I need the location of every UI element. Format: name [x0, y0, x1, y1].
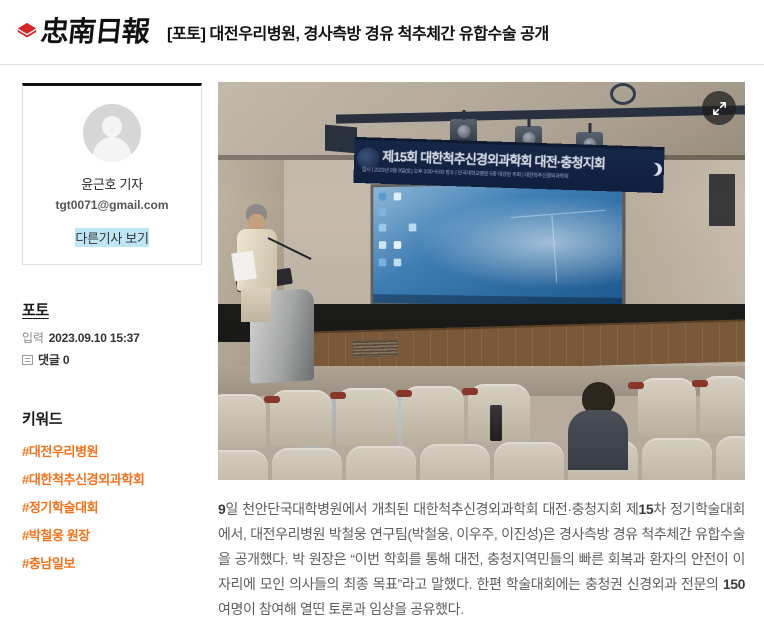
photo-person-papers	[231, 251, 257, 282]
photo-desktop-wallpaper	[511, 209, 611, 285]
photo-seat-armrest	[330, 392, 346, 399]
keyword-tag[interactable]: #충남일보	[22, 553, 202, 572]
photo-tumbler	[490, 405, 502, 441]
photo-desktop-icon	[394, 193, 401, 201]
keywords-section: 키워드 #대전우리병원 #대한척추신경외과학회 #정기학술대회 #박철웅 원장 …	[22, 408, 202, 572]
photo-person-legs	[241, 288, 271, 322]
photo-desktop-icon	[379, 259, 386, 267]
photo-seat	[272, 448, 342, 480]
photo-speaker-person	[236, 204, 278, 320]
published-label: 입력	[22, 329, 44, 346]
reporter-email: tgt0071@gmail.com	[33, 198, 191, 212]
photo-desktop-icon	[394, 241, 401, 249]
published-value: 2023.09.10 15:37	[49, 331, 140, 345]
reporter-card: 윤근호 기자 tgt0071@gmail.com 다른기사 보기	[22, 83, 202, 265]
photo-attendee-shoulders	[568, 410, 628, 470]
keyword-list: #대전우리병원 #대한척추신경외과학회 #정기학술대회 #박철웅 원장 #충남일…	[22, 441, 202, 572]
page-title: [포토] 대전우리병원, 경사측방 경유 척추체간 유합수술 공개	[167, 20, 549, 44]
expand-fullscreen-icon	[711, 100, 728, 117]
photo-banner-moon-icon	[645, 163, 658, 176]
photo-seat	[218, 450, 268, 480]
keyword-tag[interactable]: #박철웅 원장	[22, 525, 202, 544]
photo-wall-vent	[352, 339, 398, 357]
site-header: 忠南日報 [포토] 대전우리병원, 경사측방 경유 척추체간 유합수술 공개	[0, 0, 764, 65]
article-body-text: 9일 천안단국대학병원에서 개최된 대한척추신경외과학회 대전·충청지회 제15…	[218, 497, 745, 622]
keyword-tag[interactable]: #대전우리병원	[22, 441, 202, 460]
photo-attendee-person	[568, 382, 628, 470]
avatar-head-shape	[102, 116, 122, 137]
published-row: 입력 2023.09.10 15:37	[22, 329, 202, 346]
comment-icon	[22, 355, 33, 365]
keyword-tag[interactable]: #대한척추신경외과학회	[22, 469, 202, 488]
other-articles-link[interactable]: 다른기사 보기	[75, 228, 148, 247]
photo-seat-armrest	[396, 390, 412, 397]
photo-image: 제15회 대한척추신경외과학회 대전·충청지회 일시 | 2023년 9월 9일…	[218, 82, 745, 480]
keyword-tag[interactable]: #정기학술대회	[22, 497, 202, 516]
photo-desktop-icon	[379, 193, 386, 201]
comment-row[interactable]: 댓글 0	[22, 351, 202, 368]
site-logo[interactable]: 忠南日報	[16, 18, 149, 46]
photo-seat	[346, 446, 416, 480]
photo-speaker-box	[709, 174, 735, 226]
expand-photo-button[interactable]	[702, 91, 736, 125]
site-logo-text: 忠南日報	[40, 18, 151, 46]
article-meta: 포토 입력 2023.09.10 15:37 댓글 0	[22, 299, 202, 368]
red-diamond-book-icon	[16, 21, 38, 43]
photo-seat-armrest	[692, 380, 708, 387]
avatar-body-shape	[93, 137, 131, 162]
main-column: 제15회 대한척추신경외과학회 대전·충청지회 일시 | 2023년 9월 9일…	[218, 82, 745, 622]
photo-desktop-icon	[379, 224, 386, 232]
page-body: 윤근호 기자 tgt0071@gmail.com 다른기사 보기 포토 입력 2…	[0, 65, 764, 615]
photo-lamp-ring	[610, 83, 636, 105]
comment-count-label: 댓글 0	[38, 351, 69, 368]
photo-seat	[494, 442, 564, 480]
photo-seat-armrest	[462, 388, 478, 395]
article-photo[interactable]: 제15회 대한척추신경외과학회 대전·충청지회 일시 | 2023년 9월 9일…	[218, 82, 745, 480]
photo-seat	[420, 444, 490, 480]
photo-seat-armrest	[264, 396, 280, 403]
photo-desktop-icon	[394, 259, 401, 267]
photo-seat	[218, 394, 266, 448]
photo-desktop-icon	[409, 224, 417, 232]
photo-seat	[642, 438, 712, 480]
sidebar: 윤근호 기자 tgt0071@gmail.com 다른기사 보기 포토 입력 2…	[22, 83, 202, 581]
photo-seat	[716, 436, 745, 480]
avatar	[83, 104, 141, 162]
photo-desktop-icon	[379, 241, 386, 249]
photo-conference-banner: 제15회 대한척추신경외과학회 대전·충청지회 일시 | 2023년 9월 9일…	[353, 137, 664, 193]
keywords-title: 키워드	[22, 408, 202, 429]
photo-speaker-box	[325, 125, 357, 154]
photo-desktop-icon	[379, 208, 386, 216]
photo-projection-screen	[373, 183, 622, 308]
photo-seat-armrest	[628, 382, 644, 389]
reporter-name: 윤근호 기자	[33, 174, 191, 193]
category-link-photo[interactable]: 포토	[22, 299, 49, 320]
photo-seat	[638, 378, 696, 436]
